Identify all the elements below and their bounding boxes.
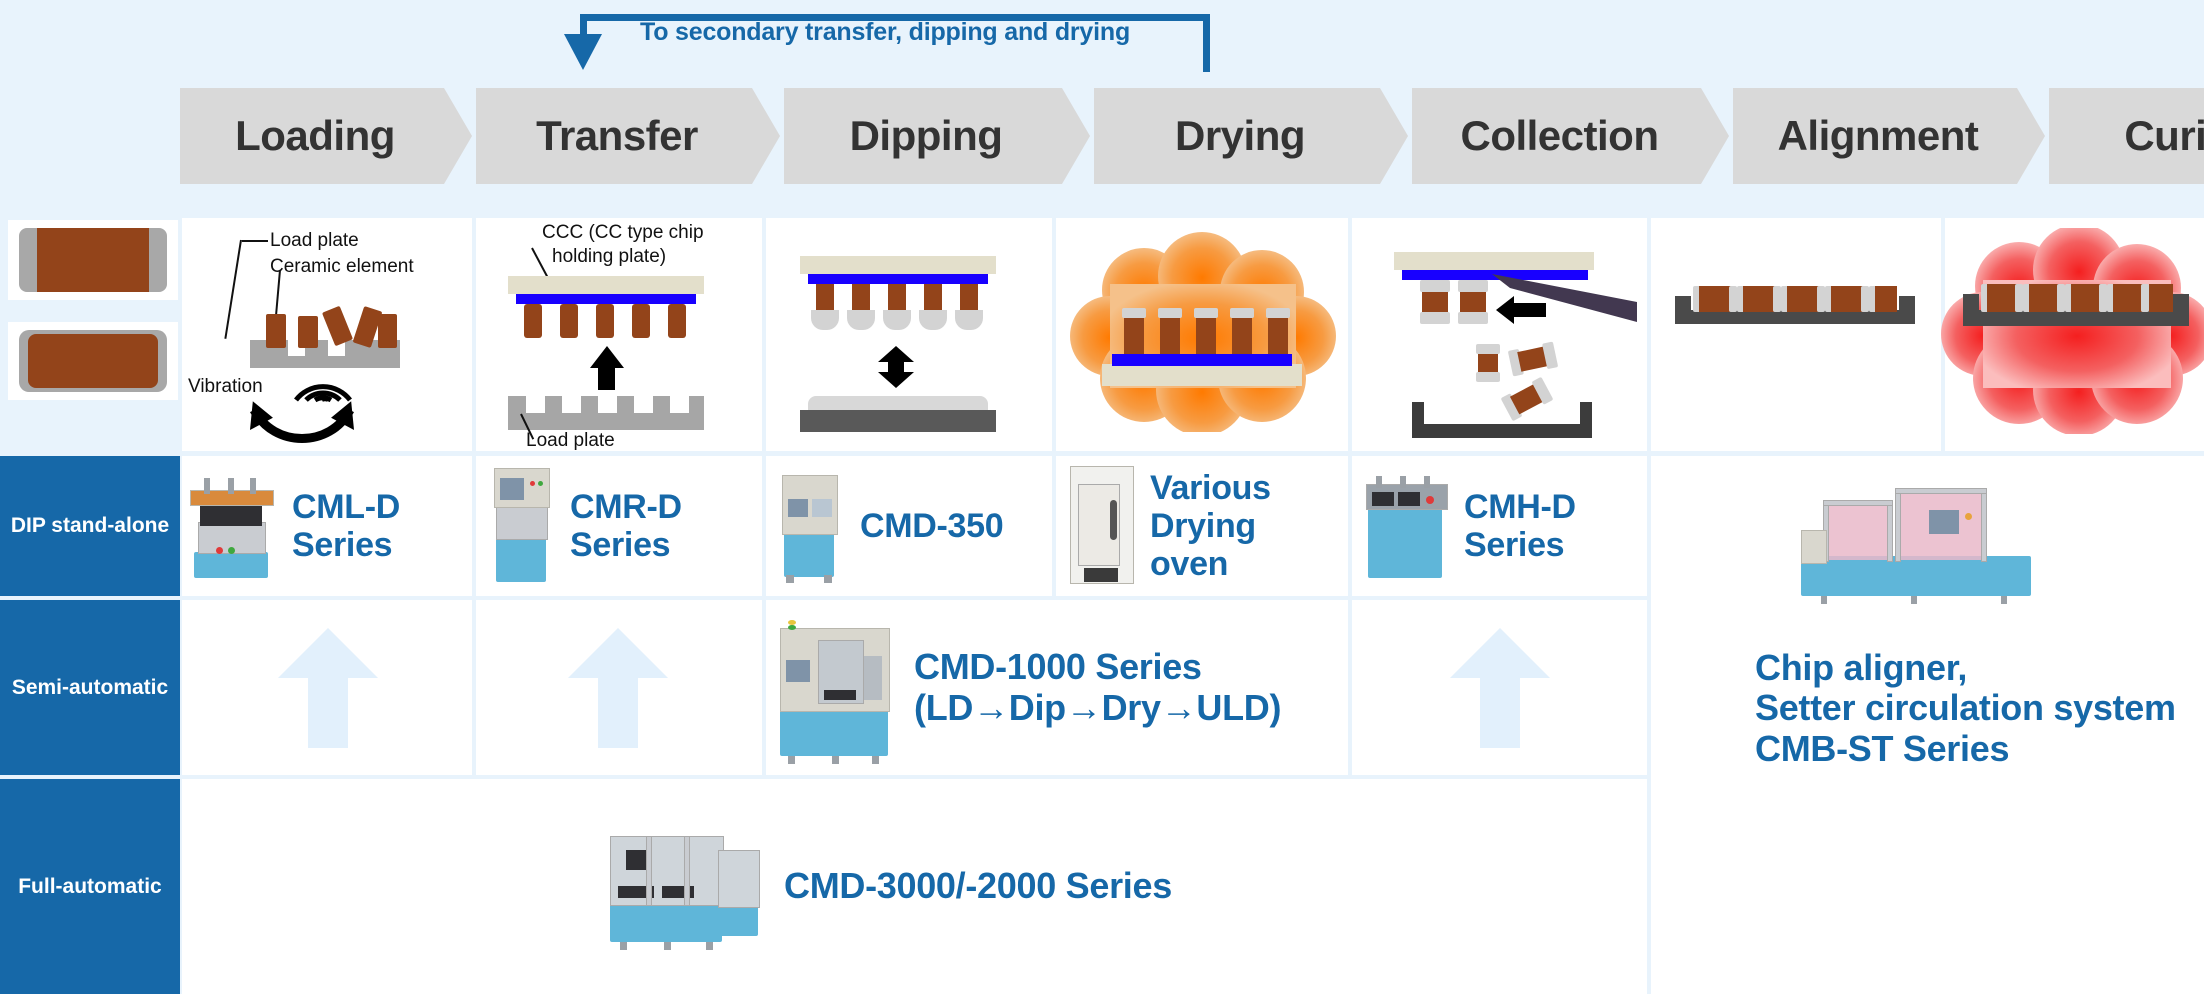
stage-label: Drying	[1175, 112, 1305, 160]
transfer-arrow-stem	[598, 366, 615, 390]
label-ccc-line2: holding plate)	[552, 246, 666, 268]
row-label-text: Full-automatic	[18, 875, 162, 899]
product-label-cmr-d: CMR-D Series	[570, 488, 762, 564]
chip-terminal	[1458, 312, 1488, 324]
chip-body	[37, 228, 149, 292]
product-cell-cmb-st[interactable]: Chip aligner, Setter circulation system …	[1651, 456, 2204, 994]
chip	[560, 304, 578, 338]
leader-line	[224, 240, 242, 339]
leader-line	[531, 248, 549, 279]
transfer-direction-arrow-icon	[590, 346, 624, 368]
chip-terminal	[1476, 344, 1500, 354]
chip	[1160, 316, 1180, 354]
chip-terminal	[1194, 308, 1218, 318]
machine-photo-drying-oven	[1070, 468, 1132, 584]
machine-photo-cml-d	[188, 474, 274, 578]
setter-tray-base	[1675, 310, 1915, 324]
stage-label: Curing	[2124, 112, 2204, 160]
product-label-cmd-350: CMD-350	[860, 507, 1003, 545]
chip-terminal	[1122, 308, 1146, 318]
machine-photo-cmd-350	[780, 469, 838, 583]
setter-tray-base	[1963, 310, 2189, 326]
chip-terminal	[1266, 308, 1290, 318]
paste-tip	[883, 310, 911, 330]
chip	[1124, 316, 1144, 354]
illustration-dipping	[766, 218, 1052, 451]
falling-chip	[1501, 377, 1554, 422]
product-cell-cml-d[interactable]: CML-D Series	[182, 456, 472, 596]
aligned-chip-row	[1693, 286, 1897, 312]
label-load-plate: Load plate	[270, 230, 359, 252]
product-cell-drying-oven[interactable]: Various Drying oven	[1056, 456, 1348, 596]
chip-body	[28, 334, 158, 388]
process-flow-diagram: To secondary transfer, dipping and dryin…	[0, 0, 2204, 994]
label-vibration: Vibration	[188, 376, 263, 398]
up-arrow-icon	[278, 628, 378, 748]
semi-auto-arrow-cell-collection	[1352, 600, 1647, 775]
chip-thumbnail-side-view	[8, 220, 178, 300]
curing-chip-row	[1981, 284, 2173, 312]
machine-photo-cmd-3000	[610, 832, 758, 942]
illustration-drying	[1056, 218, 1348, 451]
machine-photo-cmh-d	[1366, 474, 1446, 578]
label-load-plate: Load plate	[526, 430, 615, 452]
paste-layer	[808, 274, 988, 284]
setter-tray-wall-right	[1899, 296, 1915, 312]
paste-layer	[1112, 354, 1292, 366]
semi-auto-arrow-cell-loading	[182, 600, 472, 775]
paste-tip	[919, 310, 947, 330]
vibration-wave-icon	[288, 358, 358, 404]
chip	[852, 284, 870, 312]
ceramic-element	[266, 314, 286, 348]
stage-label: Loading	[235, 112, 395, 160]
chip-thumbnail-top-view	[8, 322, 178, 400]
product-label-cmb-st: Chip aligner, Setter circulation system …	[1755, 648, 2176, 769]
row-label-text: DIP stand-alone	[11, 514, 169, 538]
collection-bin-right	[1580, 402, 1592, 438]
illustration-transfer: CCC (CC type chip holding plate)	[476, 218, 762, 451]
oscillation-arrow-icon	[232, 400, 372, 452]
ceramic-element	[298, 316, 318, 348]
chip	[668, 304, 686, 338]
ccc-plate	[800, 256, 996, 274]
return-flow-arrow: To secondary transfer, dipping and dryin…	[580, 6, 1210, 68]
stage-curing[interactable]: Curing	[2049, 88, 2204, 184]
illustration-collection	[1352, 218, 1647, 451]
label-ceramic-element: Ceramic element	[270, 256, 414, 278]
plate-slot	[562, 396, 581, 413]
product-label-cmd-3000: CMD-3000/-2000 Series	[784, 866, 1172, 906]
leader-line	[242, 240, 268, 242]
return-arrow-label: To secondary transfer, dipping and dryin…	[640, 18, 1130, 47]
product-label-cmh-d: CMH-D Series	[1464, 488, 1647, 564]
heat-cloud-red-icon	[1939, 228, 2204, 434]
paste-tip	[847, 310, 875, 330]
illustration-alignment	[1651, 218, 1941, 451]
setter-tray-wall-left	[1675, 296, 1691, 312]
stage-chevron-bar: Loading Transfer Dipping Drying Collecti…	[180, 88, 2204, 184]
product-label-cmd-1000: CMD-1000 Series (LD→Dip→Dry→ULD)	[914, 647, 1281, 728]
paste-layer	[516, 294, 696, 304]
return-arrow-head-icon	[564, 34, 602, 70]
plate-slot	[526, 396, 545, 413]
chip	[632, 304, 650, 338]
chip-terminal	[1458, 280, 1488, 292]
falling-chip	[1478, 354, 1498, 372]
chip	[1232, 316, 1252, 354]
chip	[960, 284, 978, 312]
setter-plate	[1102, 364, 1302, 386]
illustration-loading: Load plate Ceramic element Vibration	[182, 218, 472, 451]
chip	[1196, 316, 1216, 354]
chip	[1422, 292, 1448, 312]
paste-tip	[955, 310, 983, 330]
label-ccc-line1: CCC (CC type chip	[542, 222, 704, 244]
stage-transfer[interactable]: Transfer	[476, 88, 780, 184]
dip-updown-arrow-icon	[876, 346, 916, 388]
semi-auto-arrow-cell-transfer	[476, 600, 762, 775]
stage-label: Transfer	[536, 112, 698, 160]
product-cell-cmh-d[interactable]: CMH-D Series	[1352, 456, 1647, 596]
product-cell-cmr-d[interactable]: CMR-D Series	[476, 456, 762, 596]
product-label-drying-oven: Various Drying oven	[1150, 469, 1300, 583]
process-matrix: Load plate Ceramic element Vibration	[0, 218, 2204, 994]
paste-table	[800, 410, 996, 432]
illustration-curing	[1945, 218, 2204, 451]
setter-tray-wall-left	[1963, 294, 1979, 312]
stage-loading[interactable]: Loading	[180, 88, 472, 184]
chip-terminal	[1420, 280, 1450, 292]
setter-tray-wall-right	[2173, 294, 2189, 312]
mlcc-chip-icon	[19, 228, 167, 292]
row-label-full-automatic: Full-automatic	[0, 779, 180, 994]
row-label-dip-stand-alone: DIP stand-alone	[0, 456, 180, 596]
chip-terminal	[1230, 308, 1254, 318]
chip-terminal	[1476, 372, 1500, 382]
stage-label: Dipping	[850, 112, 1003, 160]
row-label-text: Semi-automatic	[12, 676, 168, 700]
stage-collection[interactable]: Collection	[1412, 88, 1729, 184]
ccc-plate	[1394, 252, 1594, 270]
mlcc-chip-icon	[19, 330, 167, 392]
falling-chip	[1508, 342, 1558, 377]
up-arrow-icon	[568, 628, 668, 748]
product-cell-cmd-350[interactable]: CMD-350	[766, 456, 1052, 596]
chip	[1268, 316, 1288, 354]
plate-slot	[598, 396, 617, 413]
collection-arrow-icon	[1496, 296, 1546, 324]
machine-photo-cmb-st	[1801, 486, 2031, 596]
stage-label: Collection	[1460, 112, 1658, 160]
product-cell-cmd-1000[interactable]: CMD-1000 Series (LD→Dip→Dry→ULD)	[766, 600, 1348, 775]
ceramic-element	[378, 314, 397, 348]
plate-slot	[670, 396, 689, 413]
machine-photo-cmr-d	[494, 470, 548, 582]
ccc-plate	[508, 276, 704, 294]
chip-terminal	[1420, 312, 1450, 324]
product-label-cml-d: CML-D Series	[292, 488, 472, 564]
chip-terminal	[1158, 308, 1182, 318]
chip	[1460, 292, 1486, 312]
collection-bin-base	[1412, 424, 1592, 438]
up-arrow-icon	[1450, 628, 1550, 748]
chip	[888, 284, 906, 312]
row-label-semi-automatic: Semi-automatic	[0, 600, 180, 775]
chip	[816, 284, 834, 312]
chip	[924, 284, 942, 312]
chip	[596, 304, 614, 338]
stage-dipping[interactable]: Dipping	[784, 88, 1090, 184]
stage-drying[interactable]: Drying	[1094, 88, 1408, 184]
stage-label: Alignment	[1778, 112, 1979, 160]
paste-tip	[811, 310, 839, 330]
chip	[524, 304, 542, 338]
product-cell-cmd-3000[interactable]: CMD-3000/-2000 Series	[182, 779, 1647, 994]
stage-alignment[interactable]: Alignment	[1733, 88, 2045, 184]
machine-photo-cmd-1000	[780, 620, 888, 756]
return-arrow-right-line	[1203, 14, 1210, 72]
plate-slot	[634, 396, 653, 413]
